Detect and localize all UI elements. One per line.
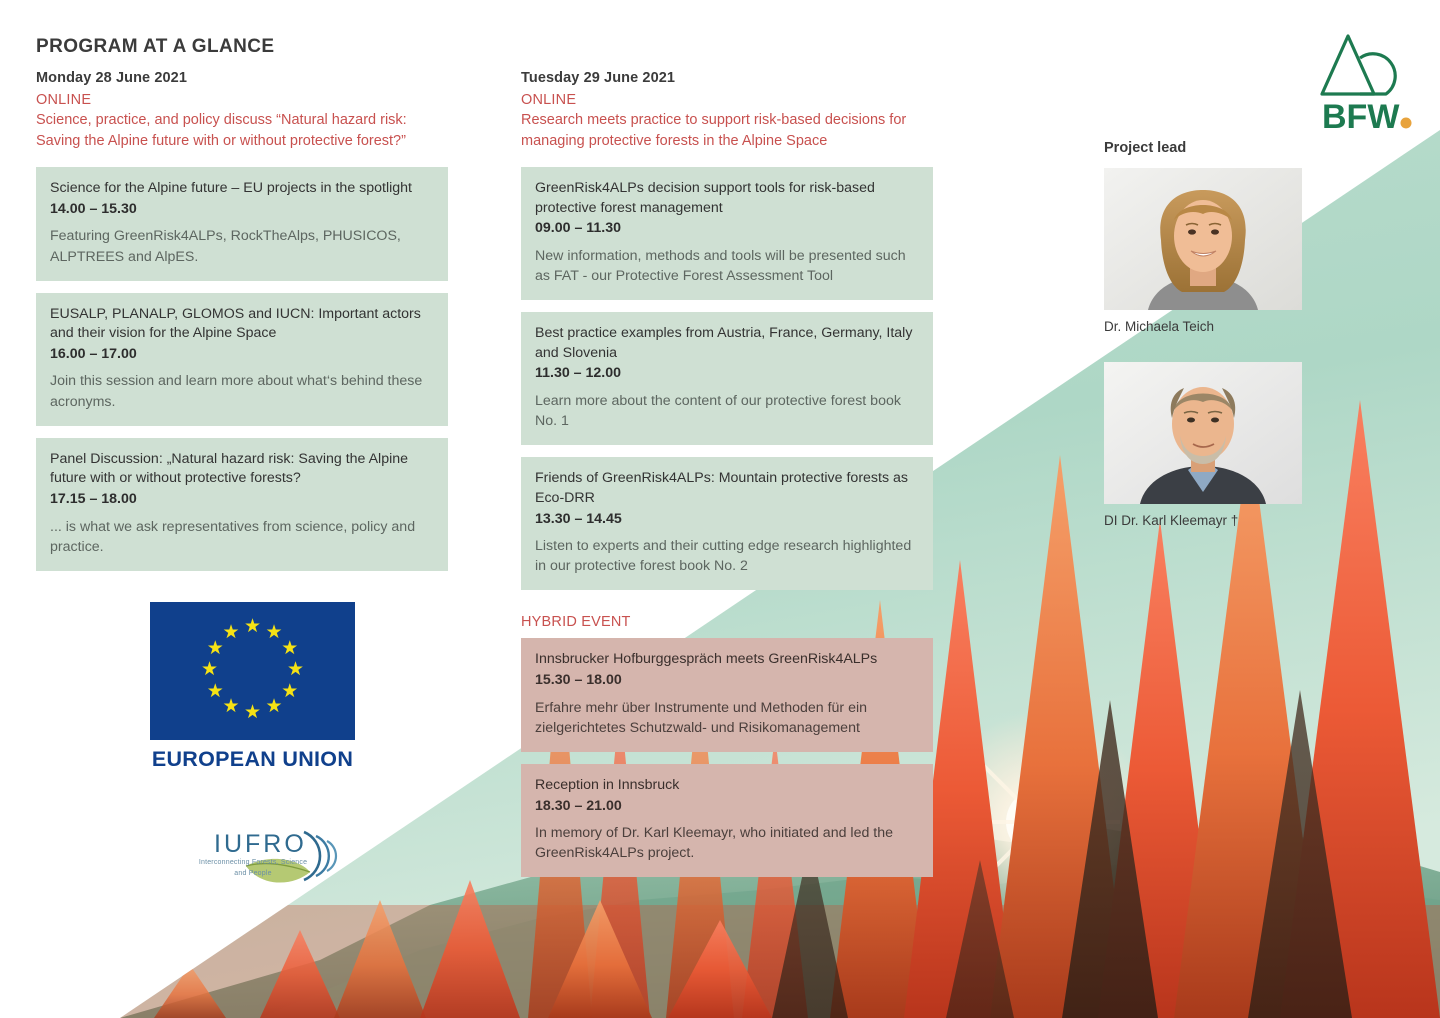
session-time: 17.15 – 18.00 bbox=[50, 489, 434, 510]
session-title: Panel Discussion: „Natural hazard risk: … bbox=[50, 450, 434, 489]
session-card[interactable]: EUSALP, PLANALP, GLOMOS and IUCN: Import… bbox=[36, 293, 448, 426]
session-time: 14.00 – 15.30 bbox=[50, 199, 434, 220]
session-title: GreenRisk4ALPs decision support tools fo… bbox=[535, 179, 919, 218]
person-name: DI Dr. Karl Kleemayr † bbox=[1104, 513, 1354, 528]
bfw-wordmark: BFW bbox=[1322, 98, 1400, 134]
eu-flag-icon: ★★★★★★★★★★★★ bbox=[150, 602, 355, 740]
iufro-wordmark: IUFRO bbox=[214, 830, 307, 859]
page-title: PROGRAM AT A GLANCE bbox=[36, 36, 274, 58]
avatar bbox=[1104, 168, 1302, 310]
hybrid-event-label: HYBRID EVENT bbox=[521, 614, 933, 630]
session-title: EUSALP, PLANALP, GLOMOS and IUCN: Import… bbox=[50, 305, 434, 344]
session-description: Join this session and learn more about w… bbox=[50, 371, 434, 411]
session-description: In memory of Dr. Karl Kleemayr, who init… bbox=[535, 823, 919, 863]
hybrid-session-card[interactable]: Reception in Innsbruck 18.30 – 21.00 In … bbox=[521, 764, 933, 878]
day-date: Monday 28 June 2021 bbox=[36, 70, 448, 86]
session-title: Best practice examples from Austria, Fra… bbox=[535, 324, 919, 363]
avatar bbox=[1104, 362, 1302, 504]
session-title: Friends of GreenRisk4ALPs: Mountain prot… bbox=[535, 469, 919, 508]
project-lead-heading: Project lead bbox=[1104, 140, 1354, 156]
bfw-logo-graphic: BFW bbox=[1316, 28, 1416, 134]
session-description: Learn more about the content of our prot… bbox=[535, 391, 919, 431]
person-name: Dr. Michaela Teich bbox=[1104, 319, 1354, 334]
session-description: Featuring GreenRisk4ALPs, RockTheAlps, P… bbox=[50, 226, 434, 266]
session-time: 18.30 – 21.00 bbox=[535, 796, 919, 817]
iufro-tagline: Interconnecting Forests, Science and Peo… bbox=[194, 858, 312, 879]
day-subtitle: Science, practice, and policy discuss “N… bbox=[36, 110, 448, 151]
day-date: Tuesday 29 June 2021 bbox=[521, 70, 933, 86]
person-card: DI Dr. Karl Kleemayr † bbox=[1104, 362, 1354, 528]
person-card: Dr. Michaela Teich bbox=[1104, 168, 1354, 334]
bfw-dot-icon bbox=[1401, 118, 1412, 129]
session-description: Listen to experts and their cutting edge… bbox=[535, 536, 919, 576]
european-union-logo: ★★★★★★★★★★★★ EUROPEAN UNION bbox=[150, 602, 355, 772]
session-card[interactable]: Best practice examples from Austria, Fra… bbox=[521, 312, 933, 445]
hybrid-session-card[interactable]: Innsbrucker Hofburggespräch meets GreenR… bbox=[521, 638, 933, 752]
session-time: 09.00 – 11.30 bbox=[535, 218, 919, 239]
session-card[interactable]: Panel Discussion: „Natural hazard risk: … bbox=[36, 438, 448, 571]
day-mode-label: ONLINE bbox=[521, 92, 933, 108]
bfw-logo: BFW bbox=[1316, 28, 1416, 134]
session-time: 15.30 – 18.00 bbox=[535, 670, 919, 691]
day-column-tuesday: Tuesday 29 June 2021 ONLINE Research mee… bbox=[521, 70, 933, 889]
session-description: New information, methods and tools will … bbox=[535, 246, 919, 286]
session-time: 11.30 – 12.00 bbox=[535, 363, 919, 384]
day-subtitle: Research meets practice to support risk-… bbox=[521, 110, 933, 151]
session-time: 16.00 – 17.00 bbox=[50, 344, 434, 365]
session-card[interactable]: GreenRisk4ALPs decision support tools fo… bbox=[521, 167, 933, 300]
day-mode-label: ONLINE bbox=[36, 92, 448, 108]
session-title: Science for the Alpine future – EU proje… bbox=[50, 179, 434, 199]
day-column-monday: Monday 28 June 2021 ONLINE Science, prac… bbox=[36, 70, 448, 583]
session-title: Innsbrucker Hofburggespräch meets GreenR… bbox=[535, 650, 919, 670]
session-card[interactable]: Science for the Alpine future – EU proje… bbox=[36, 167, 448, 281]
session-description: Erfahre mehr über Instrumente und Method… bbox=[535, 698, 919, 738]
session-card[interactable]: Friends of GreenRisk4ALPs: Mountain prot… bbox=[521, 457, 933, 590]
project-lead-section: Project lead bbox=[1104, 140, 1354, 556]
eu-logo-caption: EUROPEAN UNION bbox=[150, 747, 355, 772]
session-time: 13.30 – 14.45 bbox=[535, 509, 919, 530]
iufro-logo: IUFRO Interconnecting Forests, Science a… bbox=[188, 820, 353, 892]
session-title: Reception in Innsbruck bbox=[535, 776, 919, 796]
session-description: ... is what we ask representatives from … bbox=[50, 517, 434, 557]
